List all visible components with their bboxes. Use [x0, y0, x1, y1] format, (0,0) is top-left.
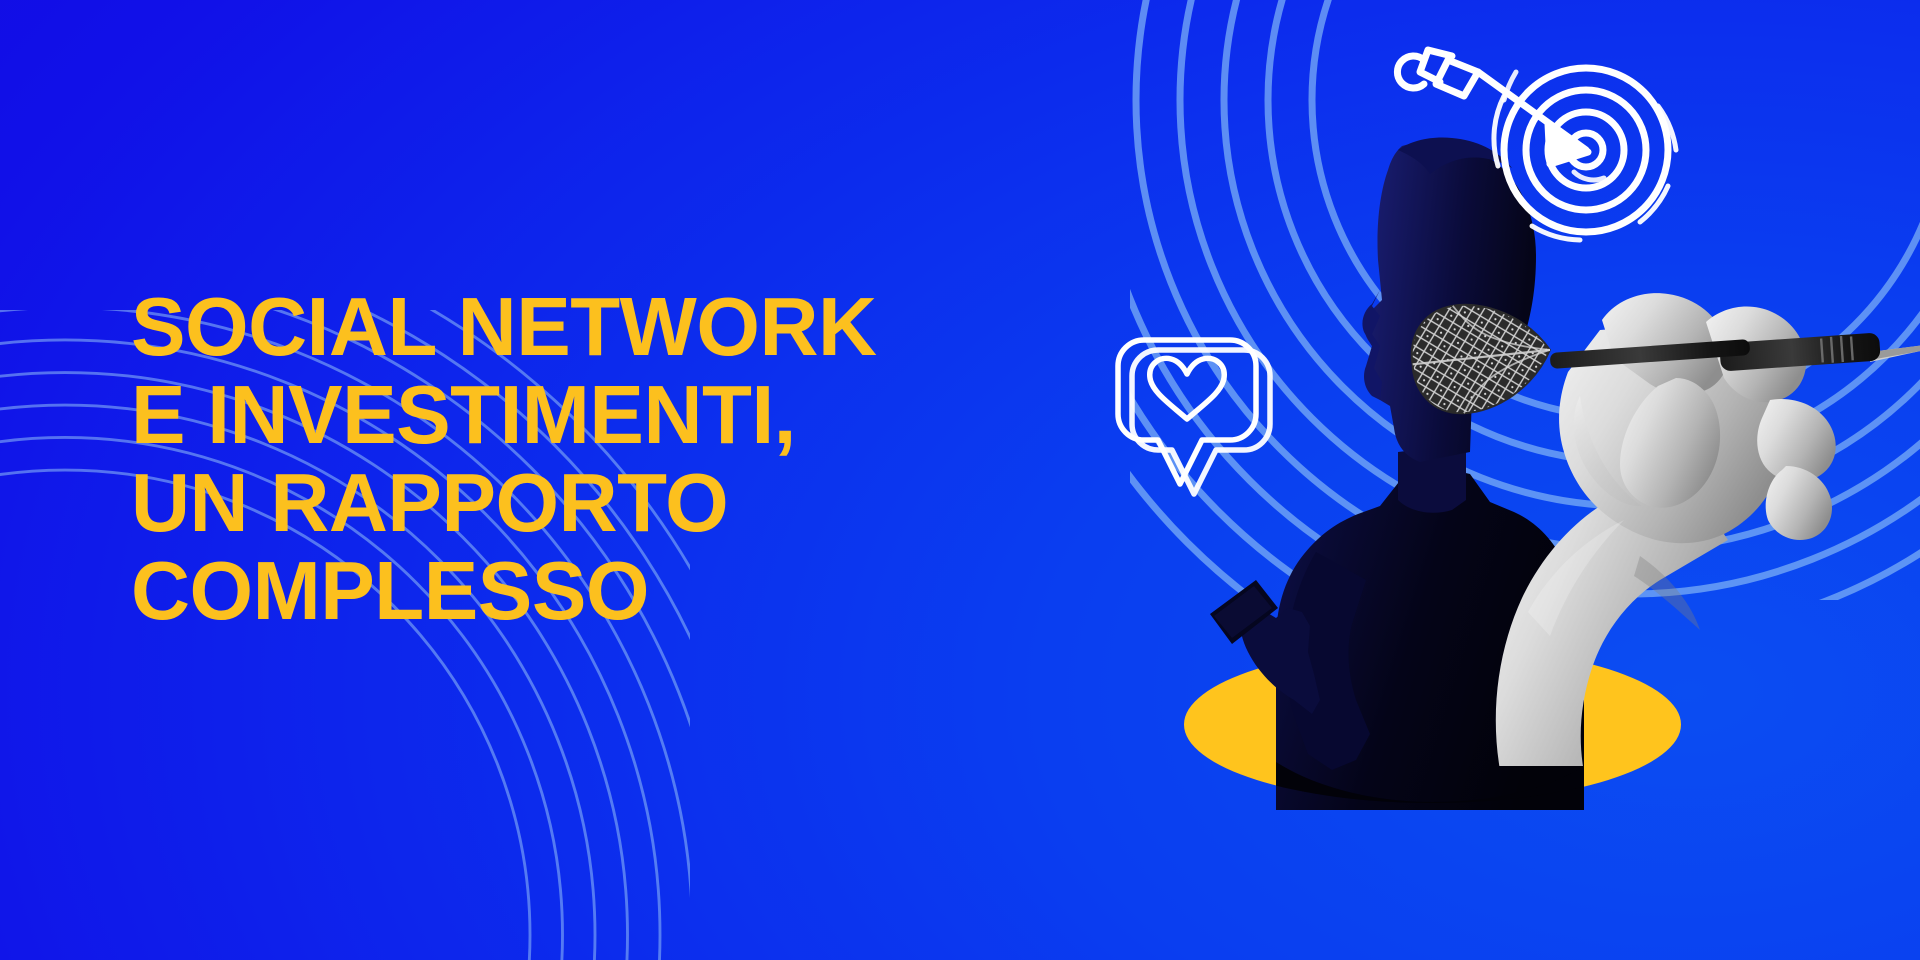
hero-artwork: Silhouette of a man looking at a smartph…: [1080, 0, 1920, 960]
headline-line-1: SOCIAL NETWORK: [131, 283, 1096, 371]
headline-line-3: UN RAPPORTO: [131, 459, 1096, 547]
headline-line-4: COMPLESSO: [131, 547, 1096, 635]
promo-banner: SOCIAL NETWORK E INVESTIMENTI, UN RAPPOR…: [0, 0, 1920, 960]
headline-line-2: E INVESTIMENTI,: [131, 371, 1096, 459]
headline: SOCIAL NETWORK E INVESTIMENTI, UN RAPPOR…: [131, 283, 1111, 635]
hand-with-dart: [1080, 0, 1920, 960]
